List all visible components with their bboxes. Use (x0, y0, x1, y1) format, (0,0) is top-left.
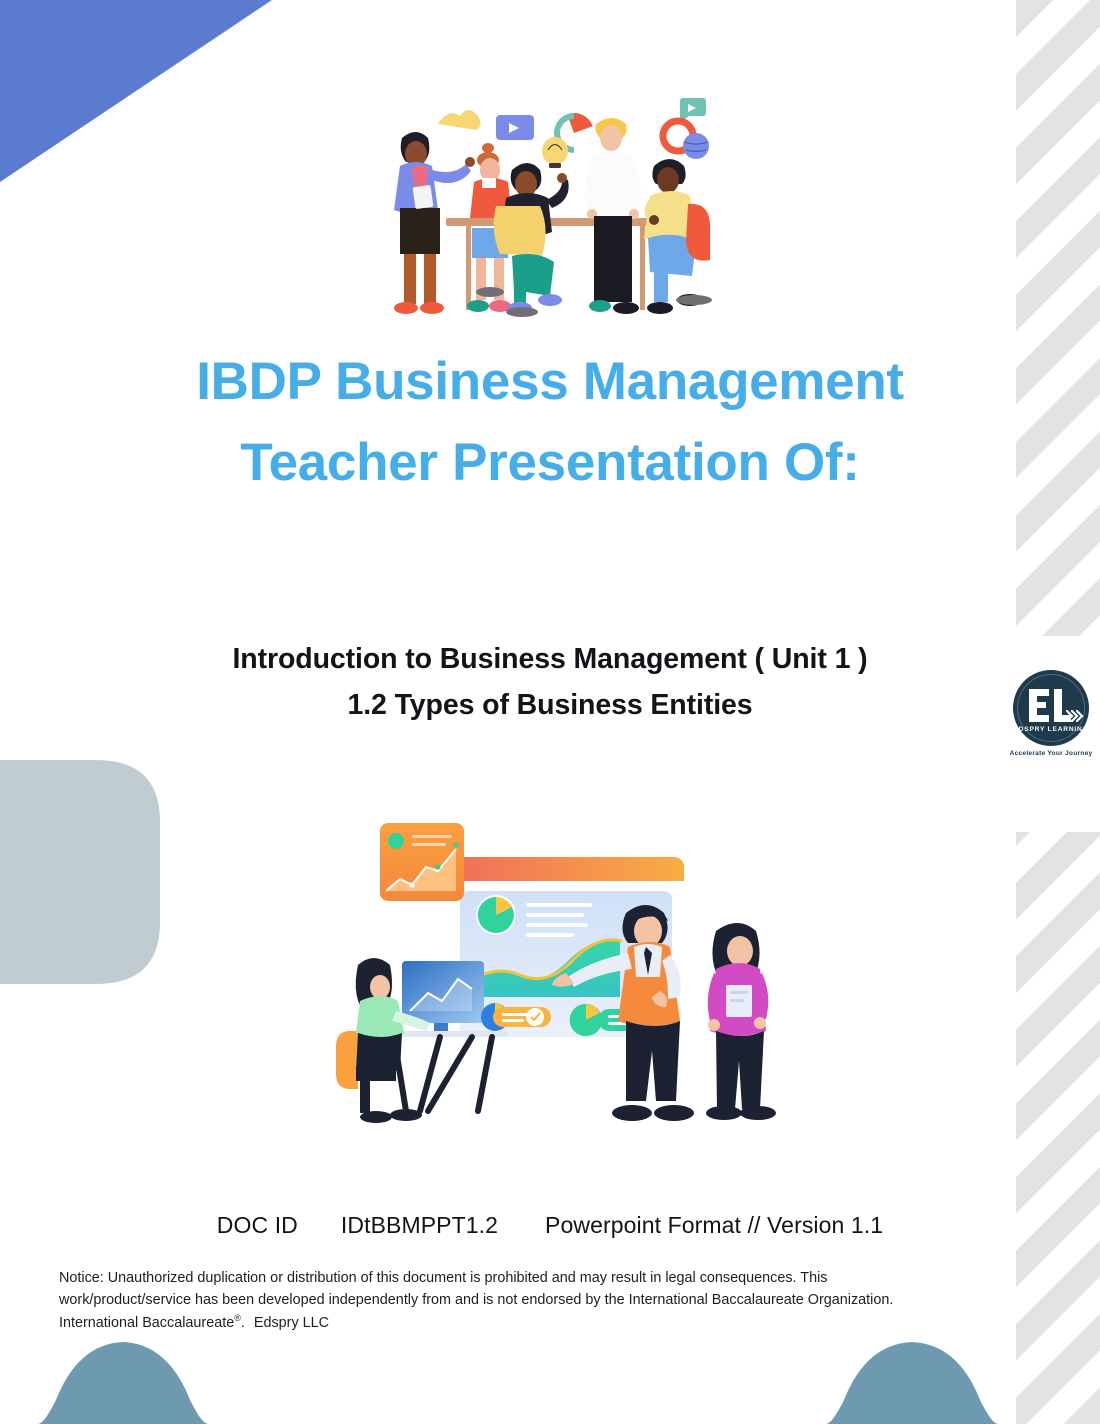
page-subtitle-line-2: 1.2 Types of Business Entities (110, 682, 990, 728)
registered-trademark-icon: ® (234, 1313, 241, 1323)
page-subtitle: Introduction to Business Management ( Un… (110, 636, 990, 728)
logo-tagline: Accelerate Your Journey (1005, 750, 1097, 757)
edspry-learning-logo-icon: EDSPRY LEARNING (1011, 668, 1091, 748)
business-analytics-presentation-illustration (330, 805, 780, 1150)
doc-format-version: Powerpoint Format // Version 1.1 (545, 1212, 883, 1238)
ib-trademark-text: International Baccalaureate (59, 1315, 234, 1331)
page-title-line-2: Teacher Presentation Of: (110, 423, 990, 504)
doc-id-value: IDtBBMPPT1.2 (341, 1212, 498, 1238)
legal-notice: Notice: Unauthorized duplication or dist… (59, 1268, 989, 1334)
publisher-name: Edspry LLC (254, 1315, 329, 1331)
page-title-line-1: IBDP Business Management (110, 342, 990, 423)
page-subtitle-line-1: Introduction to Business Management ( Un… (110, 636, 990, 682)
doc-id-label: DOC ID (217, 1212, 298, 1238)
page-title: IBDP Business Management Teacher Present… (110, 342, 990, 503)
team-meeting-illustration (378, 78, 738, 336)
legal-notice-line-1: Notice: Unauthorized duplication or dist… (59, 1268, 989, 1290)
document-cover-page: IBDP Business Management Teacher Present… (0, 0, 1100, 1424)
doc-meta-line: DOC ID IDtBBMPPT1.2 Powerpoint Format //… (110, 1212, 990, 1239)
legal-notice-line-3: International Baccalaureate®.Edspry LLC (59, 1312, 989, 1335)
svg-text:EDSPRY LEARNING: EDSPRY LEARNING (1013, 726, 1088, 733)
brand-logo: EDSPRY LEARNING Accelerate Your Journey (1005, 668, 1097, 774)
legal-notice-line-2: work/product/service has been developed … (59, 1290, 989, 1312)
legal-notice-period: . (241, 1315, 245, 1331)
